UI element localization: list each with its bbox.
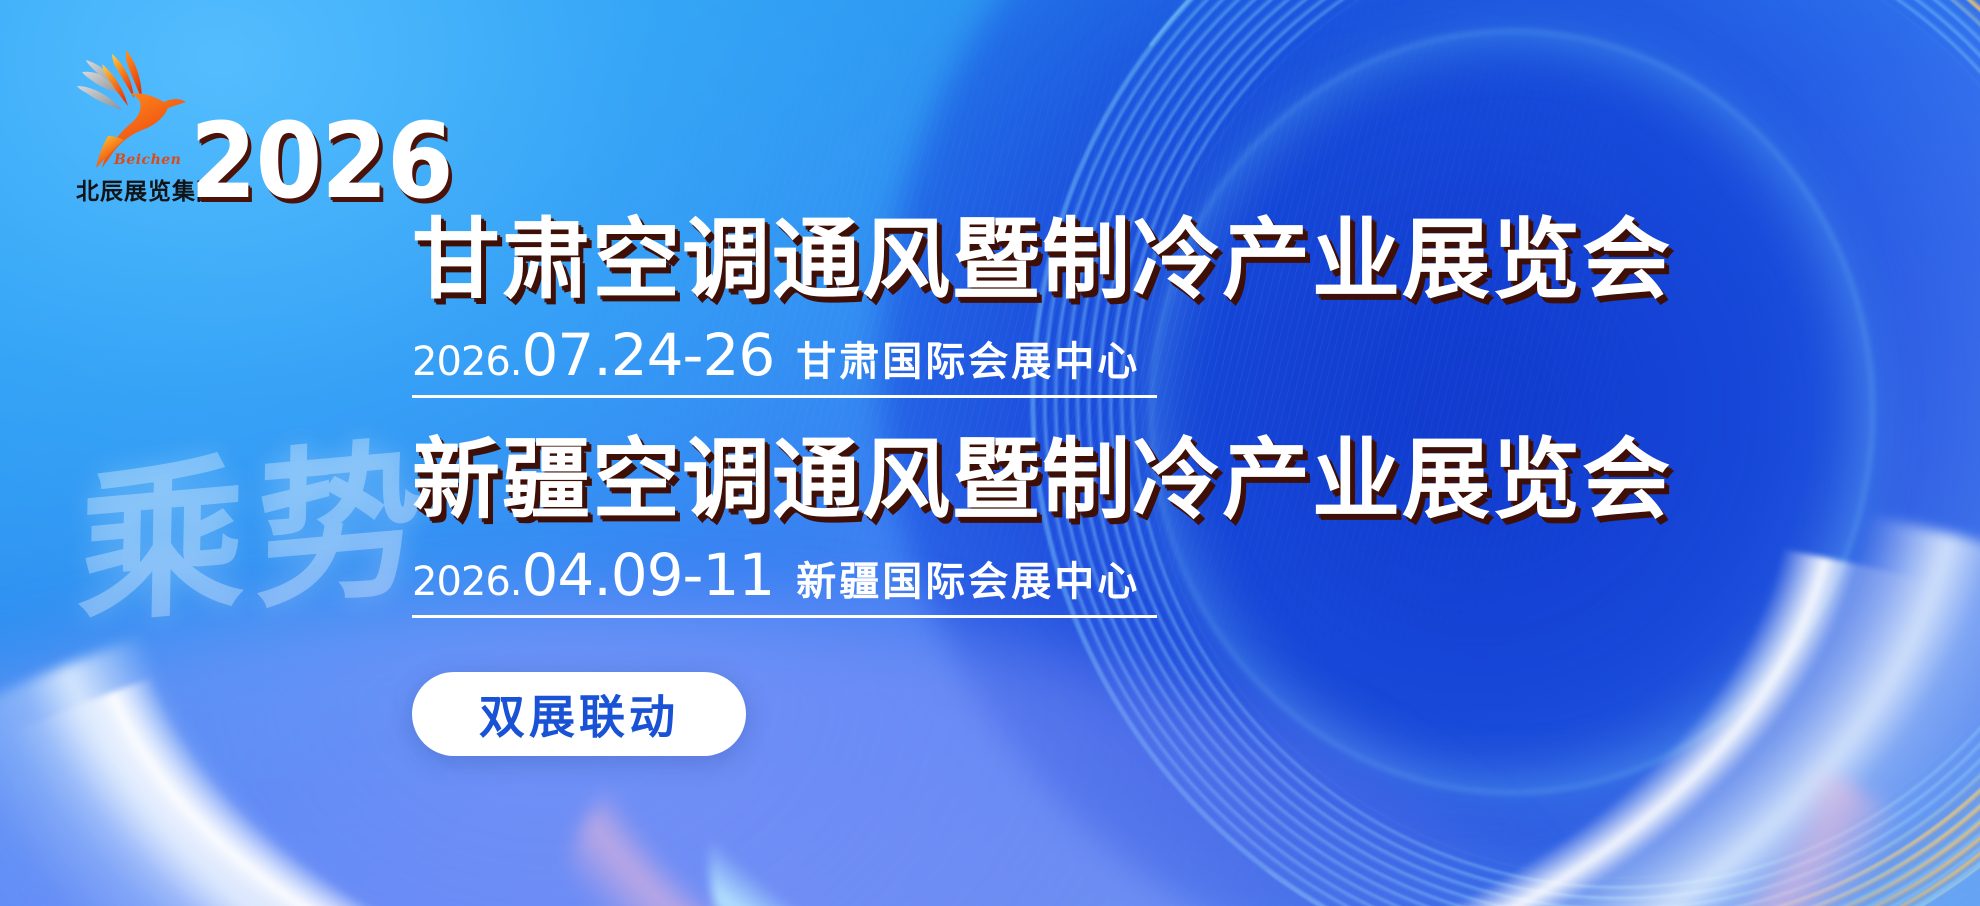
exhibition-meta-xinjiang: 2026.04.09-11 新疆国际会展中心	[412, 541, 1157, 618]
logo-script-text: Beichen	[114, 152, 181, 168]
phoenix-bird-icon	[68, 48, 198, 168]
exhibition-title-xinjiang: 新疆空调通风暨制冷产业展览会	[412, 432, 1672, 527]
exhibition-venue-gansu: 甘肃国际会展中心	[796, 329, 1140, 387]
date-year-xinjiang: 2026.	[412, 559, 522, 605]
exhibition-date-gansu: 2026.07.24-26	[412, 321, 774, 389]
date-year-gansu: 2026.	[412, 339, 522, 385]
organizer-logo[interactable]: Beichen 北辰展览集团	[68, 48, 198, 208]
exhibition-entry-xinjiang: 新疆空调通风暨制冷产业展览会 2026.04.09-11 新疆国际会展中心	[412, 432, 1672, 618]
exhibition-venue-xinjiang: 新疆国际会展中心	[796, 549, 1140, 607]
exhibition-promo-banner: 乘势	[0, 0, 1980, 906]
exhibition-date-xinjiang: 2026.04.09-11	[412, 541, 774, 609]
lavender-glow-decoration	[0, 600, 1600, 906]
year-2026-heading: 2026	[190, 100, 453, 222]
exhibition-meta-gansu: 2026.07.24-26 甘肃国际会展中心	[412, 321, 1157, 398]
exhibition-content-block: 甘肃空调通风暨制冷产业展览会 2026.07.24-26 甘肃国际会展中心 新疆…	[412, 212, 1672, 618]
dual-exhibition-badge-label: 双展联动	[479, 681, 679, 747]
date-monthday-xinjiang: 04.09-11	[522, 541, 775, 609]
date-monthday-gansu: 07.24-26	[522, 321, 775, 389]
calligraphy-watermark: 乘势	[77, 382, 436, 657]
exhibition-title-gansu: 甘肃空调通风暨制冷产业展览会	[412, 212, 1672, 307]
dual-exhibition-badge[interactable]: 双展联动	[412, 672, 746, 756]
exhibition-entry-gansu: 甘肃空调通风暨制冷产业展览会 2026.07.24-26 甘肃国际会展中心	[412, 212, 1672, 398]
